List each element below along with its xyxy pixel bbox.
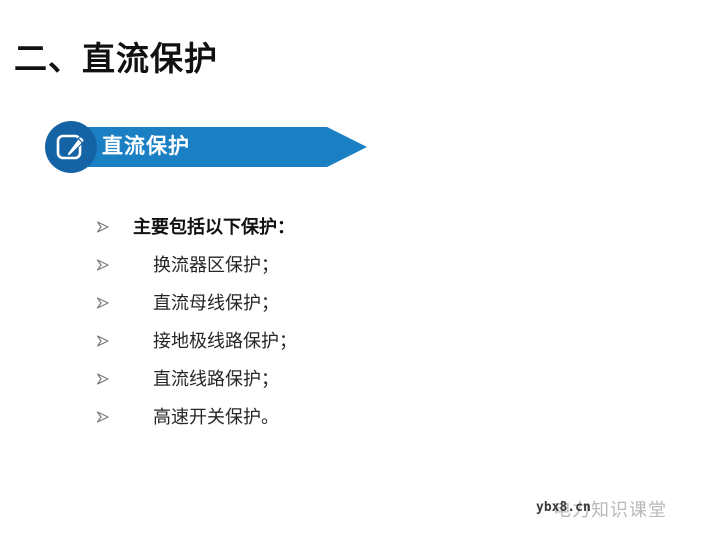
list-item-label: 主要包括以下保护： [133,215,295,239]
arrow-bullet-icon [96,219,110,235]
list-item: 直流线路保护； [96,360,556,398]
watermark-url: ybx8.cn [536,500,591,515]
bullet-list: 主要包括以下保护： 换流器区保护； 直流母线保护； [96,208,556,436]
arrow-bullet-icon [96,409,110,425]
list-item: 换流器区保护； [96,246,556,284]
arrow-bullet-icon [96,371,110,387]
arrow-bullet-icon [96,295,110,311]
slide-canvas: 二、直流保护 直流保护 主要包括以下保护： [0,0,720,540]
list-item: 高速开关保护。 [96,398,556,436]
list-item: 直流母线保护； [96,284,556,322]
list-item: 主要包括以下保护： [96,208,556,246]
watermark: 电力知识课堂 ybx8.cn [486,492,716,526]
section-banner: 直流保护 [45,121,367,173]
edit-pencil-icon [54,130,88,164]
list-item-label: 直流母线保护； [153,291,279,315]
page-title: 二、直流保护 [14,38,218,80]
list-item-label: 高速开关保护。 [153,405,279,429]
list-item: 接地极线路保护； [96,322,556,360]
list-item-label: 换流器区保护； [153,253,279,277]
banner-label: 直流保护 [102,132,190,162]
list-item-label: 直流线路保护； [153,367,279,391]
arrow-bullet-icon [96,333,110,349]
arrow-bullet-icon [96,257,110,273]
list-item-label: 接地极线路保护； [153,329,297,353]
